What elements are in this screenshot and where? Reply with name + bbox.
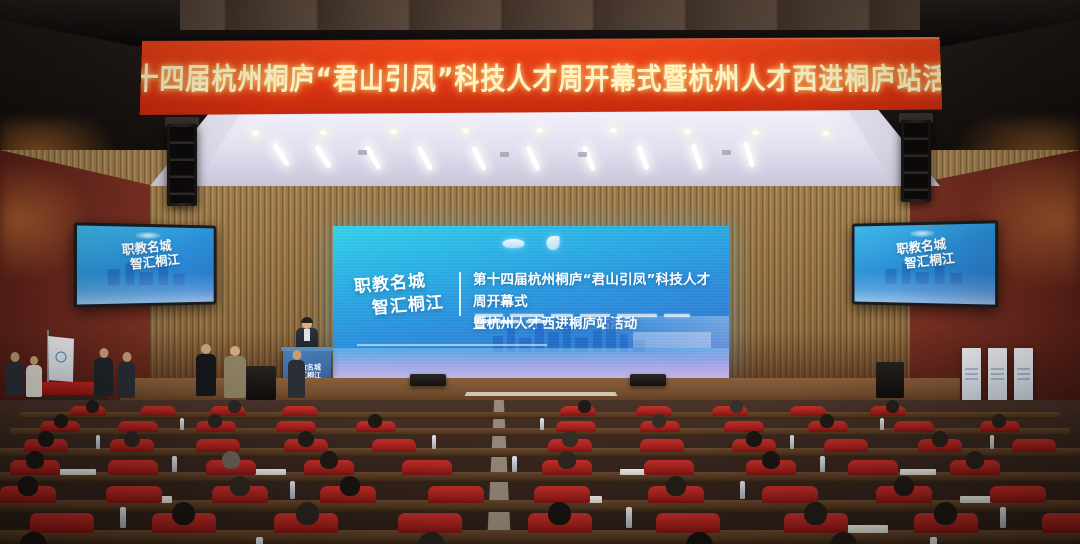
attendee-head <box>292 350 301 360</box>
attendee-head <box>368 414 382 428</box>
ceiling-vent <box>722 150 731 155</box>
screen-panel-highlight <box>633 332 711 348</box>
ceiling-vent <box>578 152 587 157</box>
water-bottle <box>290 481 295 499</box>
attendee-head <box>894 476 914 496</box>
attendee-head <box>804 502 827 525</box>
screen-skyline-graphic <box>333 316 729 378</box>
event-banner-surface: 第十四届杭州桐庐“君山引凤”科技人才周开幕式暨杭州人才西进桐庐站活动 <box>140 37 943 115</box>
attendee-head <box>666 476 686 496</box>
ceiling-downlight <box>536 128 543 133</box>
photographer <box>196 344 216 396</box>
attendee-head <box>340 476 360 496</box>
floor-speaker-stack-right <box>876 362 904 398</box>
bridge-graphic <box>357 332 547 348</box>
flag-emblem-icon <box>56 352 67 363</box>
cityscape-graphic <box>77 272 214 304</box>
attendee-head <box>548 502 571 525</box>
water-bottle <box>820 456 825 472</box>
attendee-body <box>118 362 135 398</box>
seat <box>402 460 452 475</box>
event-banner: 第十四届杭州桐庐“君山引凤”科技人才周开幕式暨杭州人才西进桐庐站活动 <box>140 37 943 115</box>
rollup-banner <box>988 348 1007 402</box>
seat <box>398 513 462 533</box>
attendee-body <box>6 362 24 396</box>
ceiling-downlight <box>752 130 759 135</box>
water-bottle <box>1000 507 1006 528</box>
side-display-left: 职教名城 智汇桐江 <box>74 222 217 307</box>
seat <box>106 486 162 503</box>
organization-logo-icon <box>503 239 525 248</box>
attendee-head <box>820 414 834 428</box>
attendee-head <box>54 414 68 428</box>
seat <box>1042 513 1080 533</box>
water-bottle <box>432 435 436 449</box>
attendee-head <box>18 476 38 496</box>
ceiling-downlight <box>822 131 829 136</box>
standing-attendee <box>118 352 135 398</box>
attendee-body <box>94 358 113 396</box>
seat <box>1012 439 1056 452</box>
water-bottle <box>930 537 937 544</box>
document-on-desk <box>900 469 936 475</box>
standing-attendee <box>94 348 113 396</box>
screen-logo-icon <box>910 230 935 237</box>
attendee-head <box>558 451 576 469</box>
ceiling-downlight <box>610 128 617 133</box>
screen-event-title-line1: 第十四届杭州桐庐“君山引凤”科技人才周开幕式 <box>473 270 718 314</box>
attendee-head <box>172 502 195 525</box>
attendee-head <box>762 451 780 469</box>
speaker-shirt <box>304 329 310 341</box>
attendee-head <box>222 451 240 469</box>
seat <box>108 460 158 475</box>
document-on-desk <box>60 469 96 475</box>
seat <box>824 439 868 452</box>
auditorium-scene: 第十四届杭州桐庐“君山引凤”科技人才周开幕式暨杭州人才西进桐庐站活动 职教名城 … <box>0 0 1080 544</box>
side-display-left-slogan: 职教名城 智汇桐江 <box>114 240 180 276</box>
water-bottle <box>172 456 177 472</box>
attendee-head <box>730 400 743 413</box>
seat <box>644 460 694 475</box>
attendee-head <box>230 476 250 496</box>
rollup-banner <box>962 348 981 402</box>
floor-speaker-stack <box>246 366 276 400</box>
attendee-head <box>298 431 314 447</box>
illuminated-soffit-inner <box>200 112 890 178</box>
seat <box>282 406 318 416</box>
rollup-banner <box>1014 348 1033 402</box>
attendee-head <box>886 400 899 413</box>
cityscape-graphic <box>855 272 996 305</box>
attendee-head <box>99 348 108 358</box>
ceiling-downlight <box>320 130 327 135</box>
line-array-speaker-left <box>167 124 197 206</box>
attendee-head <box>966 451 984 469</box>
water-bottle <box>96 435 100 449</box>
attendee-head <box>208 414 222 428</box>
seat <box>990 486 1046 503</box>
attendee-head <box>124 431 140 447</box>
river-graphic <box>333 348 729 378</box>
main-led-screen: 职教名城 智汇桐江 第十四届杭州桐庐“君山引凤”科技人才周开幕式 暨杭州人才西进… <box>333 226 729 378</box>
water-bottle <box>880 418 884 430</box>
screen-logo-icon <box>135 232 160 239</box>
seat <box>848 460 898 475</box>
water-bottle <box>626 507 632 528</box>
seat <box>640 439 684 452</box>
seat <box>118 421 158 432</box>
red-table-cloth <box>36 382 100 395</box>
photographer-head <box>201 344 211 354</box>
seat <box>894 421 934 432</box>
standing-attendee <box>288 350 305 398</box>
seat <box>534 486 590 503</box>
ceiling-downlight <box>684 129 691 134</box>
screen-divider <box>459 272 461 316</box>
ceiling-vent <box>358 150 367 155</box>
seat <box>372 439 416 452</box>
attendee-head <box>932 431 948 447</box>
speaker-hair <box>301 317 313 323</box>
line-array-speaker-right <box>901 120 931 202</box>
attendee-head <box>228 400 241 413</box>
standing-attendee <box>6 352 24 396</box>
secondary-logo-icon <box>547 236 560 250</box>
attendee-head <box>992 414 1006 428</box>
attendee-head <box>652 414 666 428</box>
ceiling-panel-grid <box>180 0 920 30</box>
water-bottle <box>540 418 544 430</box>
seat <box>762 486 818 503</box>
stage-monitor-right <box>630 374 666 386</box>
water-bottle <box>180 418 184 430</box>
attendee-head <box>122 352 131 362</box>
ceiling-vent <box>500 152 509 157</box>
attendee-head <box>26 451 44 469</box>
water-bottle <box>256 537 263 544</box>
attendee-body <box>26 365 42 397</box>
camera-operator-head <box>230 346 240 356</box>
audience-seating <box>0 400 1080 544</box>
seat <box>656 513 720 533</box>
seat <box>724 421 764 432</box>
attendee-head <box>562 431 578 447</box>
side-display-right-slogan: 职教名城 智汇桐江 <box>890 237 956 274</box>
seat <box>790 406 826 416</box>
ceremonial-flag <box>48 336 74 382</box>
screen-logos <box>503 236 560 250</box>
attendee-head <box>11 352 20 362</box>
side-display-left-screen: 职教名城 智汇桐江 <box>77 225 214 304</box>
water-bottle <box>120 507 126 528</box>
event-banner-text: 第十四届杭州桐庐“君山引凤”科技人才周开幕式暨杭州人才西进桐庐站活动 <box>107 56 976 98</box>
attendee-head <box>320 451 338 469</box>
photographer-body <box>196 354 216 396</box>
attendee-head <box>578 400 591 413</box>
attendee-head <box>296 502 319 525</box>
seat <box>276 421 316 432</box>
stage-monitor-left <box>410 374 446 386</box>
attendee-head <box>86 400 99 413</box>
attendee-body <box>288 360 305 398</box>
ceiling-downlight <box>462 128 469 133</box>
attendee-head <box>30 356 38 365</box>
water-bottle <box>740 481 745 499</box>
seat <box>556 421 596 432</box>
water-bottle <box>512 456 517 472</box>
camera-operator-body <box>224 356 246 398</box>
attendee-head <box>38 431 54 447</box>
seat <box>196 439 240 452</box>
seat <box>30 513 94 533</box>
ceiling-downlight <box>390 129 397 134</box>
ceiling-downlight <box>252 131 259 136</box>
water-bottle <box>790 435 794 449</box>
standing-attendee <box>26 356 42 398</box>
water-bottle <box>990 435 994 449</box>
camera-operator <box>224 346 246 398</box>
screen-slogan: 职教名城 智汇桐江 <box>353 268 455 322</box>
attendee-head <box>934 502 957 525</box>
attendee-head <box>746 431 762 447</box>
side-display-right: 职教名城 智汇桐江 <box>852 220 998 308</box>
side-display-right-screen: 职教名城 智汇桐江 <box>855 223 996 304</box>
seat <box>428 486 484 503</box>
seat <box>140 406 176 416</box>
